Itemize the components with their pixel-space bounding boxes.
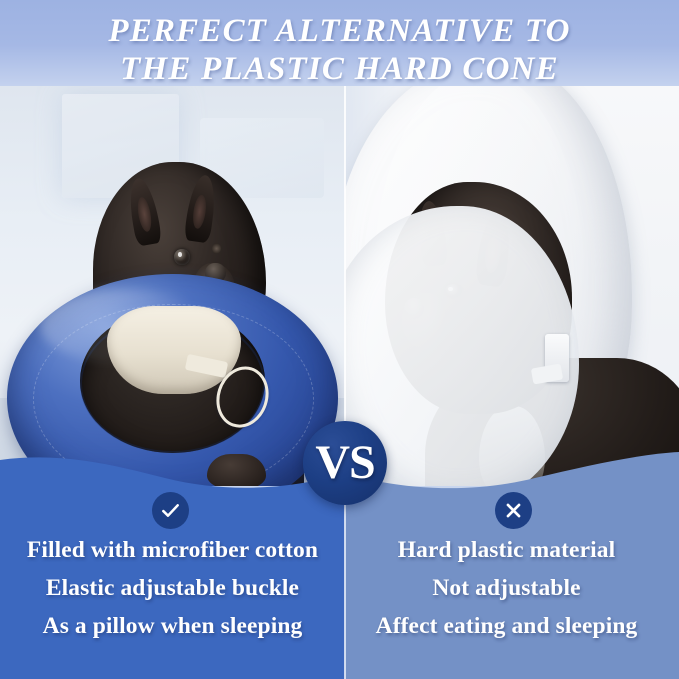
check-circle-icon — [152, 492, 189, 529]
vs-badge: VS — [303, 421, 387, 505]
list-item: Hard plastic material — [334, 531, 679, 569]
headline-line-1: PERFECT ALTERNATIVE TO — [108, 13, 570, 49]
list-item: Elastic adjustable buckle — [0, 569, 345, 607]
photo-right-hard-cone — [345, 86, 679, 486]
list-item: As a pillow when sleeping — [0, 607, 345, 645]
photo-left-soft-donut-collar — [0, 86, 345, 486]
left-feature-list: Filled with microfiber cotton Elastic ad… — [0, 531, 345, 645]
dog-ear-right — [183, 174, 218, 244]
list-item: Not adjustable — [334, 569, 679, 607]
vs-label: VS — [315, 439, 374, 487]
x-circle-icon — [495, 492, 532, 529]
right-feature-list: Hard plastic material Not adjustable Aff… — [334, 531, 679, 645]
dog-left — [0, 86, 345, 486]
headline-line-2: THE PLASTIC HARD CONE — [0, 50, 679, 88]
dog-ear-left — [125, 176, 162, 247]
dog-eye — [174, 249, 190, 265]
page-title: PERFECT ALTERNATIVE TO THE PLASTIC HARD … — [0, 12, 679, 88]
dog-eye-far — [212, 243, 221, 254]
list-item: Filled with microfiber cotton — [0, 531, 345, 569]
list-item: Affect eating and sleeping — [334, 607, 679, 645]
product-comparison-poster: PERFECT ALTERNATIVE TO THE PLASTIC HARD … — [0, 0, 679, 679]
